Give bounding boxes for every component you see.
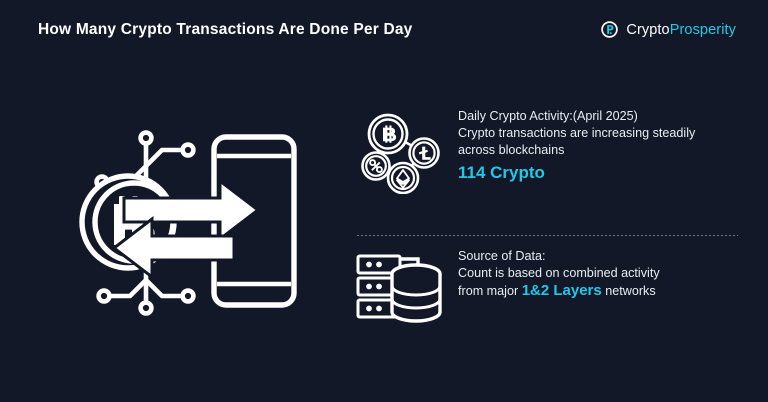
daily-crypto-activity-text: Daily Crypto Activity:(April 2025) Crypt… [458, 108, 742, 184]
server-database-icon [352, 248, 444, 335]
brand-name-secondary: Prosperity [670, 22, 736, 38]
section-divider [356, 235, 738, 236]
activity-line-3: across blockchains [458, 142, 742, 159]
source-line-3-highlight: 1&2 Layers [522, 282, 602, 299]
right-column: Daily Crypto Activity:(April 2025) Crypt… [352, 108, 742, 343]
source-line-3: from major 1&2 Layers networks [458, 282, 742, 300]
activity-line-1: Daily Crypto Activity:(April 2025) [458, 108, 742, 125]
header: How Many Crypto Transactions Are Done Pe… [0, 0, 768, 62]
source-of-data-text: Source of Data: Count is based on combin… [458, 248, 742, 300]
bitcoin-mobile-transaction-icon [62, 112, 302, 327]
circle-p-logo-icon [600, 20, 619, 39]
crypto-coins-network-icon [352, 108, 444, 199]
source-line-3-prefix: from major [458, 284, 522, 298]
page-title: How Many Crypto Transactions Are Done Pe… [38, 21, 413, 39]
infographic-canvas: How Many Crypto Transactions Are Done Pe… [0, 0, 768, 402]
source-line-1: Source of Data: [458, 248, 742, 265]
source-line-3-suffix: networks [602, 284, 656, 298]
brand-logo[interactable]: CryptoProsperity [600, 20, 736, 39]
brand-name: CryptoProsperity [626, 22, 736, 38]
activity-line-2: Crypto transactions are increasing stead… [458, 125, 742, 142]
activity-stat-value: 114 Crypto [458, 161, 742, 184]
source-line-2: Count is based on combined activity [458, 265, 742, 282]
brand-name-primary: Crypto [626, 22, 669, 38]
